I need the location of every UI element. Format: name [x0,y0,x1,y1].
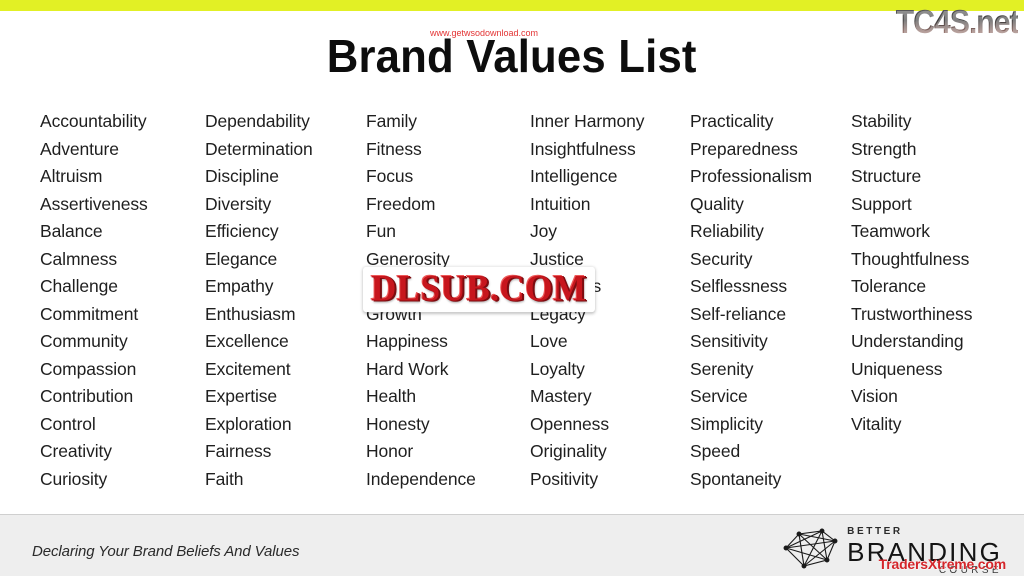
list-item: Curiosity [40,466,205,494]
list-item: Loyalty [530,356,690,384]
list-item: Insightfulness [530,136,690,164]
list-item: Control [40,411,205,439]
list-item: Understanding [851,328,1012,356]
list-item: Diversity [205,191,366,219]
tc4s-watermark-logo: TC4S.net [895,3,1018,41]
list-item: Calmness [40,246,205,274]
list-item: Fitness [366,136,530,164]
list-item: Altruism [40,163,205,191]
list-item: Strength [851,136,1012,164]
list-item: Preparedness [690,136,851,164]
list-item: Intuition [530,191,690,219]
list-item: Freedom [366,191,530,219]
list-item: Focus [366,163,530,191]
list-item: Serenity [690,356,851,384]
list-item: Openness [530,411,690,439]
list-item: Fairness [205,438,366,466]
list-item: Expertise [205,383,366,411]
list-item: Inner Harmony [530,108,690,136]
list-item: Quality [690,191,851,219]
getwsodownload-url-watermark: www.getwsodownload.com [430,28,538,38]
list-item: Dependability [205,108,366,136]
list-item: Speed [690,438,851,466]
values-column-1: Accountability Adventure Altruism Assert… [40,108,205,493]
list-item: Structure [851,163,1012,191]
values-column-2: Dependability Determination Discipline D… [205,108,366,493]
list-item: Love [530,328,690,356]
list-item: Professionalism [690,163,851,191]
list-item: Exploration [205,411,366,439]
tradersxtreme-watermark: TradersXtreme.com [879,556,1006,572]
list-item: Efficiency [205,218,366,246]
list-item: Security [690,246,851,274]
list-item: Simplicity [690,411,851,439]
list-item: Accountability [40,108,205,136]
list-item: Compassion [40,356,205,384]
list-item: Elegance [205,246,366,274]
list-item: Challenge [40,273,205,301]
list-item: Determination [205,136,366,164]
values-column-5: Practicality Preparedness Professionalis… [690,108,851,493]
list-item: Excitement [205,356,366,384]
list-item: Discipline [205,163,366,191]
slide-footer: Declaring Your Brand Beliefs And Values [0,514,1024,576]
list-item: Uniqueness [851,356,1012,384]
list-item: Community [40,328,205,356]
list-item: Commitment [40,301,205,329]
list-item: Independence [366,466,530,494]
list-item: Intelligence [530,163,690,191]
list-item: Teamwork [851,218,1012,246]
list-item: Contribution [40,383,205,411]
list-item: Vitality [851,411,1012,439]
list-item: Joy [530,218,690,246]
list-item: Honesty [366,411,530,439]
list-item: Originality [530,438,690,466]
logo-line-better: BETTER [847,527,1002,537]
list-item: Adventure [40,136,205,164]
list-item: Excellence [205,328,366,356]
list-item: Sensitivity [690,328,851,356]
list-item: Stability [851,108,1012,136]
top-accent-bar [0,0,1024,11]
list-item: Hard Work [366,356,530,384]
list-item: Happiness [366,328,530,356]
slide-canvas: TC4S.net Brand Values List www.getwsodow… [0,0,1024,576]
list-item: Balance [40,218,205,246]
list-item: Assertiveness [40,191,205,219]
list-item: Thoughtfulness [851,246,1012,274]
list-item: Spontaneity [690,466,851,494]
footer-tagline: Declaring Your Brand Beliefs And Values [32,543,299,560]
list-item: Positivity [530,466,690,494]
list-item: Mastery [530,383,690,411]
list-item: Service [690,383,851,411]
dlsub-watermark: DLSUB.COM [363,267,595,312]
list-item: Empathy [205,273,366,301]
list-item: Honor [366,438,530,466]
list-item: Faith [205,466,366,494]
list-item: Tolerance [851,273,1012,301]
list-item: Practicality [690,108,851,136]
list-item: Health [366,383,530,411]
list-item: Vision [851,383,1012,411]
list-item: Fun [366,218,530,246]
diamond-gem-icon [782,528,838,575]
list-item: Self-reliance [690,301,851,329]
list-item: Reliability [690,218,851,246]
list-item: Selflessness [690,273,851,301]
list-item: Family [366,108,530,136]
list-item: Creativity [40,438,205,466]
values-column-6: Stability Strength Structure Support Tea… [851,108,1012,438]
list-item: Support [851,191,1012,219]
list-item: Enthusiasm [205,301,366,329]
list-item: Trustworthiness [851,301,1012,329]
